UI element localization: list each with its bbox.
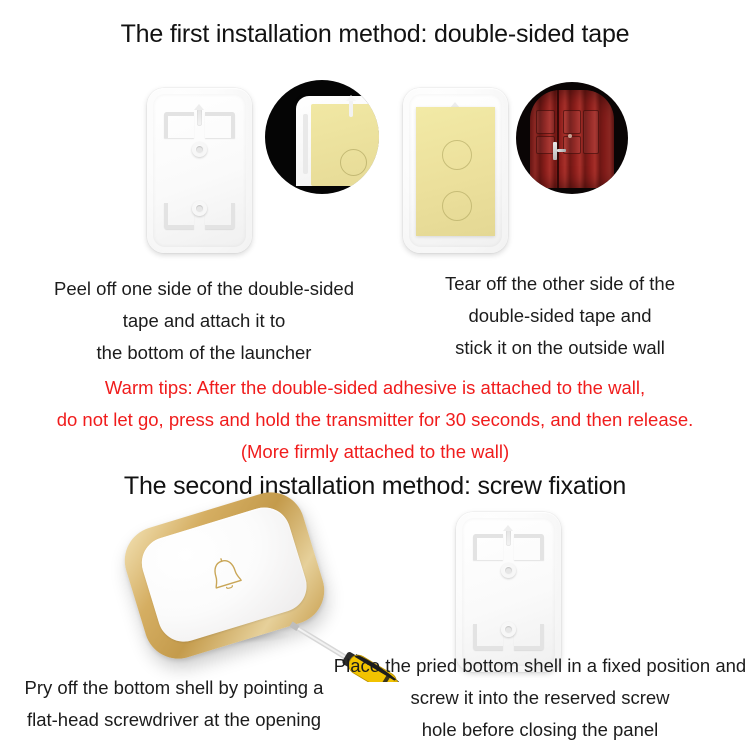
corner-clip-bottom-left (473, 624, 503, 650)
door-panel-right-upper (563, 110, 581, 134)
closeup-plate-rim (303, 114, 308, 174)
caption-line: Peel off one side of the double-sided (14, 273, 394, 305)
bell-icon (204, 552, 247, 596)
mounting-bracket (147, 88, 252, 253)
door-center-split (557, 90, 559, 188)
corner-clip-bottom-right (514, 624, 544, 650)
caption-stick-wall: Tear off the other side of the double-si… (380, 268, 740, 364)
screw-hole-lower (192, 201, 207, 216)
tape-peel-closeup-inset (265, 80, 379, 194)
caption-line: Tear off the other side of the (380, 268, 740, 300)
caption-line: flat-head screwdriver at the opening (0, 704, 348, 736)
tape-circle-lower (442, 191, 472, 221)
closeup-yellow-tape (311, 104, 379, 186)
screw-hole-lower (501, 622, 516, 637)
corner-clip-top-left (164, 112, 194, 138)
caption-line: tape and attach it to (14, 305, 394, 337)
closeup-top-slot (349, 100, 353, 117)
mounting-bracket-taped (403, 88, 508, 253)
corner-clip-top-right (205, 112, 235, 138)
corner-clip-bottom-left (164, 203, 194, 229)
bracket-top-slot (197, 109, 202, 126)
screw-hole-upper (192, 142, 207, 157)
caption-line: the bottom of the launcher (14, 337, 394, 369)
figure-bracket-screw-method (456, 512, 561, 672)
corner-clip-bottom-right (205, 203, 235, 229)
mounting-bracket (456, 512, 561, 672)
warning-line: (More firmly attached to the wall) (0, 436, 750, 468)
corner-clip-top-right (514, 534, 544, 560)
door-detail-dot (568, 134, 572, 138)
door-scene (516, 82, 628, 194)
warning-line: Warm tips: After the double-sided adhesi… (0, 372, 750, 404)
door-panel-left-upper (536, 110, 555, 134)
caption-line: stick it on the outside wall (380, 332, 740, 364)
caption-line: screw it into the reserved screw (330, 682, 750, 714)
tape-circle-upper (442, 140, 472, 170)
caption-pry-shell: Pry off the bottom shell by pointing a f… (0, 672, 348, 736)
figure-bracket-plain (147, 88, 252, 253)
caption-line: Pry off the bottom shell by pointing a (0, 672, 348, 704)
doorbell-white-face (135, 501, 313, 648)
door-handle (553, 142, 557, 160)
warning-line: do not let go, press and hold the transm… (0, 404, 750, 436)
caption-line: hole before closing the panel (330, 714, 750, 746)
section-one-heading: The first installation method: double-si… (0, 20, 750, 49)
corner-clip-top-left (473, 534, 503, 560)
caption-peel-tape: Peel off one side of the double-sided ta… (14, 273, 394, 369)
instruction-page: The first installation method: double-si… (0, 0, 750, 750)
section-two-heading: The second installation method: screw fi… (0, 472, 750, 501)
caption-screw-shell: Place the pried bottom shell in a fixed … (330, 650, 750, 746)
red-door-photo-inset (516, 82, 628, 194)
warm-tips-warning: Warm tips: After the double-sided adhesi… (0, 372, 750, 468)
yellow-adhesive-tape (416, 107, 495, 236)
figure-bracket-with-tape (403, 88, 508, 253)
bracket-top-slot (506, 530, 511, 546)
caption-line: Place the pried bottom shell in a fixed … (330, 650, 750, 682)
door-panel-far-right (583, 110, 599, 154)
caption-line: double-sided tape and (380, 300, 740, 332)
closeup-tape-circle (340, 149, 367, 176)
screw-hole-upper (501, 563, 516, 578)
